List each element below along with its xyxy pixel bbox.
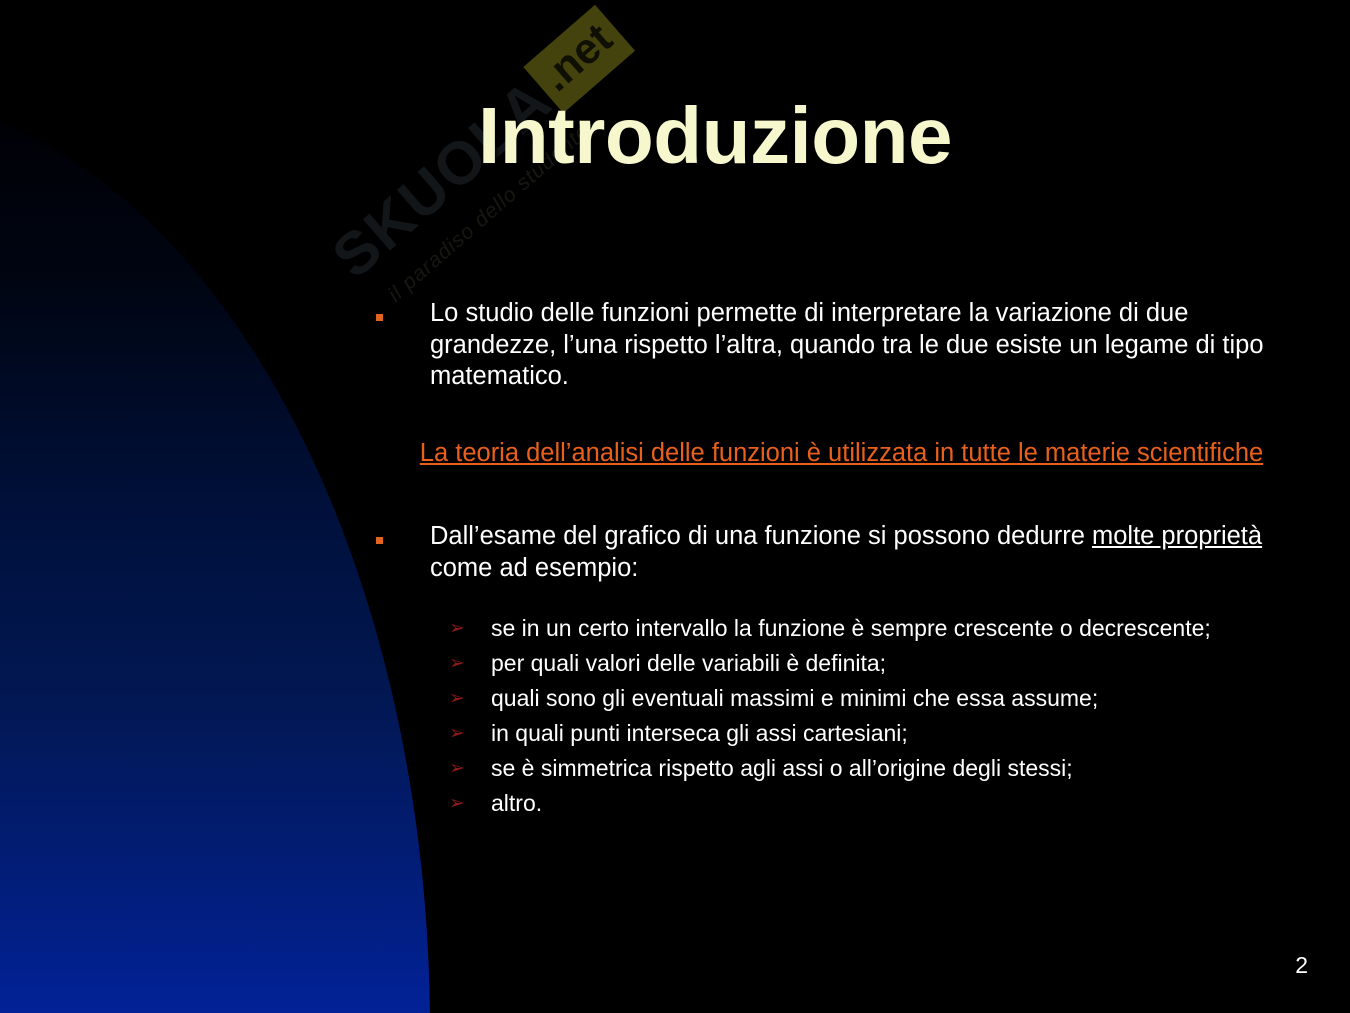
sub-bullet-text: quali sono gli eventuali massimi e minim… (491, 684, 1269, 714)
list-item: ➢ in quali punti interseca gli assi cart… (449, 719, 1269, 749)
page-number: 2 (1295, 952, 1308, 979)
bullet-2-prefix: Dall’esame del grafico di una funzione s… (430, 522, 1092, 550)
arrow-bullet-icon: ➢ (449, 792, 463, 817)
list-item: ➢ per quali valori delle variabili è def… (449, 649, 1269, 679)
bullet-item-1: Lo studio delle funzioni permette di int… (376, 298, 1294, 393)
sub-bullet-text: per quali valori delle variabili è defin… (491, 649, 1269, 679)
bullet-2-underlined: molte proprietà (1092, 522, 1262, 550)
arrow-bullet-icon: ➢ (449, 687, 463, 712)
arrow-bullet-icon: ➢ (449, 722, 463, 747)
slide-body: Lo studio delle funzioni permette di int… (376, 298, 1294, 824)
bullet-2-text: Dall’esame del grafico di una funzione s… (430, 521, 1294, 584)
blue-ellipse-decoration (0, 95, 430, 1013)
sub-bullet-text: se è simmetrica rispetto agli assi o all… (491, 754, 1269, 784)
list-item: ➢ se è simmetrica rispetto agli assi o a… (449, 754, 1269, 784)
arrow-bullet-icon: ➢ (449, 757, 463, 782)
bullet-2-suffix: come ad esempio: (430, 554, 638, 582)
list-item: ➢ quali sono gli eventuali massimi e min… (449, 684, 1269, 714)
arrow-bullet-icon: ➢ (449, 617, 463, 642)
square-bullet-icon (376, 537, 383, 544)
highlight-statement: La teoria dell’analisi delle funzioni è … (394, 437, 1289, 469)
arrow-bullet-icon: ➢ (449, 652, 463, 677)
presentation-slide: SKUOLA .net il paradiso dello studente I… (0, 0, 1350, 1013)
sub-bullet-text: altro. (491, 789, 1269, 819)
sub-bullet-list: ➢ se in un certo intervallo la funzione … (449, 614, 1269, 818)
sub-bullet-text: se in un certo intervallo la funzione è … (491, 614, 1269, 644)
sub-bullet-text: in quali punti interseca gli assi cartes… (491, 719, 1269, 749)
bullet-1-text: Lo studio delle funzioni permette di int… (430, 298, 1294, 393)
page-title: Introduzione (0, 96, 1350, 176)
list-item: ➢ altro. (449, 789, 1269, 819)
list-item: ➢ se in un certo intervallo la funzione … (449, 614, 1269, 644)
bullet-item-2: Dall’esame del grafico di una funzione s… (376, 521, 1294, 584)
square-bullet-icon (376, 314, 383, 321)
